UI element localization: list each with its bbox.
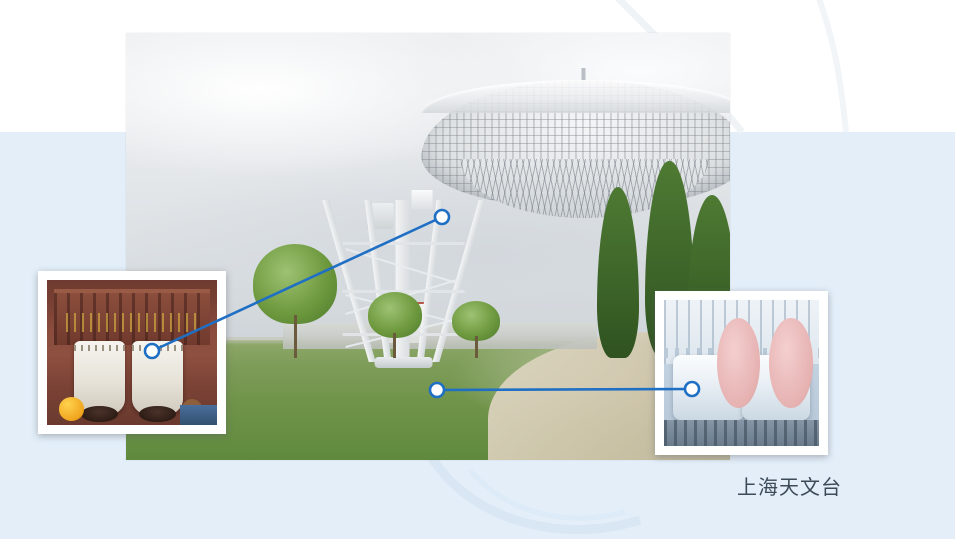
photo-conifer [597,187,639,358]
photo-tree [253,247,338,358]
dish-rim [421,80,730,113]
photo-tree [452,302,500,358]
tree-crown [452,301,500,341]
drive-end-cap [769,318,812,409]
tower-brace [343,242,465,245]
presentation-slide: 上海天文台 [0,0,955,539]
tower-azimuth-track [375,357,433,368]
tree-trunk [393,333,396,357]
rusty-steel-frame [54,289,210,345]
hard-hat [59,397,85,420]
bearing-housing [132,341,183,416]
inset-right-image [664,300,819,446]
machine-base-rail [664,420,819,446]
drive-end-cap [717,318,760,409]
inset-bearing-painted [655,291,828,455]
tree-trunk [475,336,478,357]
tree-crown [368,292,422,338]
tower-elevation-housing [412,190,433,209]
inset-left-image [47,280,217,425]
inset-bearing-rusty [38,271,226,434]
slide-caption: 上海天文台 [737,471,842,500]
worker-clothing [180,405,217,425]
photo-tree [368,293,422,357]
tree-trunk [294,315,297,357]
tree-crown [253,244,338,324]
